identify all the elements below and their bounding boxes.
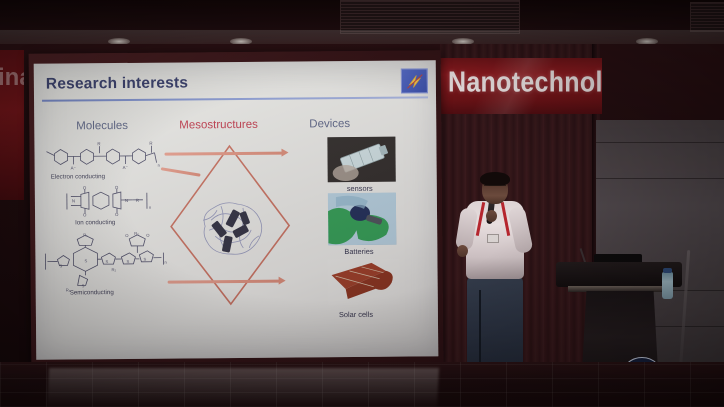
auditorium-scene: ina Nanotechnology Research interests Mo… (0, 0, 724, 407)
banner-sheen (440, 58, 602, 114)
lightning-bolt-logo (401, 68, 428, 93)
water-bottle-cap (663, 268, 672, 273)
svg-text:N: N (72, 198, 75, 203)
svg-text:S: S (126, 259, 129, 264)
svg-text:O: O (115, 185, 119, 190)
svg-text:O: O (83, 185, 87, 190)
mesostructure-diagram (164, 139, 295, 310)
venue-banner-right: Nanotechnology (440, 58, 602, 114)
chem-label-ion-conducting: Ion conducting (75, 219, 115, 226)
presenter-hand-left (457, 245, 468, 257)
ceiling-vent (340, 0, 520, 34)
svg-text:R: R (136, 198, 139, 203)
svg-text:O: O (146, 233, 150, 238)
device-label-batteries: Batteries (344, 247, 373, 256)
svg-text:R: R (149, 141, 152, 146)
slide-title: Research interests (46, 74, 188, 93)
svg-text:A⁻: A⁻ (71, 165, 76, 170)
venue-banner-left-text: ina (0, 64, 24, 92)
chem-structure-electron-conducting: A⁻ A⁻ R R n (44, 139, 162, 174)
device-image-sensors (327, 137, 395, 183)
column-header-devices: Devices (309, 118, 350, 130)
svg-text:S: S (84, 258, 87, 263)
svg-text:O: O (115, 212, 119, 217)
presentation-slide: Research interests Molecules Mesostructu… (34, 60, 439, 359)
glasses-icon (484, 185, 506, 189)
svg-text:S: S (105, 259, 108, 264)
arrow-top-head (281, 149, 288, 157)
svg-text:R₂: R₂ (134, 231, 139, 236)
lightning-bolt-icon (404, 72, 424, 90)
presenter-hair (480, 172, 510, 186)
svg-text:R₂: R₂ (111, 267, 116, 272)
arrow-bottom-head (279, 277, 286, 285)
svg-text:N: N (125, 198, 128, 203)
svg-text:n: n (149, 205, 151, 210)
svg-text:O: O (83, 212, 87, 217)
device-label-solar-cells: Solar cells (339, 310, 373, 319)
ceiling-vent (690, 2, 724, 32)
column-header-molecules: Molecules (76, 120, 128, 132)
chem-structure-ion-conducting: O O O O N N R n (63, 185, 155, 218)
presenter-hand-right (486, 210, 497, 222)
chem-label-electron-conducting: Electron conducting (51, 173, 105, 180)
device-image-solar-cells (327, 259, 399, 306)
device-image-batteries (328, 193, 396, 246)
svg-text:S: S (59, 264, 62, 269)
title-divider (42, 96, 428, 101)
screen-reflection-on-floor (47, 368, 439, 407)
projection-screen: Research interests Molecules Mesostructu… (34, 60, 439, 359)
svg-text:A⁻: A⁻ (123, 165, 128, 170)
device-label-sensors: sensors (347, 184, 373, 193)
svg-text:n: n (158, 163, 160, 168)
svg-text:O: O (125, 233, 129, 238)
presenter-badge (487, 234, 499, 243)
svg-text:R₁: R₁ (83, 232, 88, 237)
venue-banner-left: ina (0, 50, 24, 200)
water-bottle (662, 272, 673, 299)
column-header-mesostructures: Mesostructures (179, 119, 258, 132)
nanostructure-cluster-icon (199, 196, 266, 261)
svg-text:S: S (143, 257, 146, 262)
svg-text:S: S (82, 283, 85, 288)
svg-text:R: R (97, 141, 100, 146)
chem-structure-semiconducting: S S S S S S R₁ R₂ O O R₂ R₃ n (43, 231, 172, 294)
chem-label-semiconducting: Semiconducting (70, 289, 114, 296)
